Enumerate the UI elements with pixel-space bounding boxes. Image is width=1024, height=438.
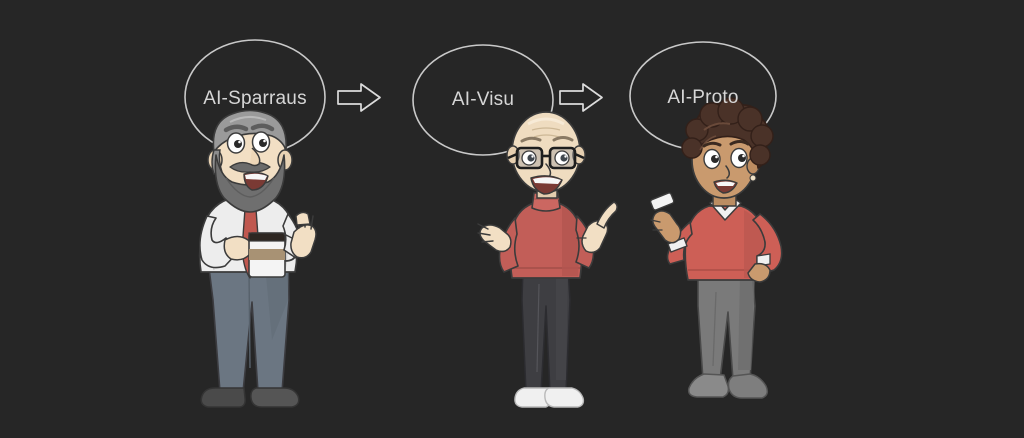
speech-bubble-label-1: AI-Sparraus <box>185 88 325 110</box>
char3-shoe-right <box>729 374 768 398</box>
character-bearded-man <box>200 111 316 408</box>
speech-bubble-label-3: AI-Proto <box>630 87 776 109</box>
char3-marker-icon <box>650 192 675 210</box>
char2-shoe-right <box>545 388 584 407</box>
char2-eye-glint-right <box>564 155 566 157</box>
char3-pupil-right <box>738 154 746 162</box>
char3-earring <box>750 175 756 181</box>
arrow-right-icon-1 <box>338 84 380 111</box>
arrow-right-icon-2 <box>560 84 602 111</box>
char1-shoe-left <box>201 388 245 407</box>
char1-eye-glint-right <box>263 140 266 143</box>
char1-pupil-right <box>259 139 267 147</box>
character-bald-man <box>478 112 617 407</box>
char2-index-finger <box>597 202 617 228</box>
char2-left-hand <box>478 224 511 251</box>
illustration-canvas: AI-Sparraus AI-Visu AI-Proto <box>0 0 1024 438</box>
char1-mustache <box>230 163 270 173</box>
speech-bubble-label-2: AI-Visu <box>413 89 553 111</box>
char3-left-hand <box>651 211 681 243</box>
char2-trouser-shadow <box>556 270 568 380</box>
char1-left-hand <box>224 237 251 260</box>
char3-eye-glint-right <box>742 155 745 158</box>
char3-pupil-left <box>711 155 719 163</box>
char1-pupil-left <box>234 140 242 148</box>
scene-artwork <box>0 0 1024 438</box>
char2-pupil-left <box>527 154 534 161</box>
character-woman <box>650 98 782 398</box>
char1-trouser-crease <box>249 270 250 368</box>
char1-shoe-right <box>251 388 299 407</box>
char3-eye-glint-left <box>715 156 718 159</box>
char2-pupil-right <box>560 154 567 161</box>
char1-eye-glint-left <box>238 141 241 144</box>
char3-shoe-left <box>689 374 729 397</box>
char2-eye-glint-left <box>531 155 533 157</box>
